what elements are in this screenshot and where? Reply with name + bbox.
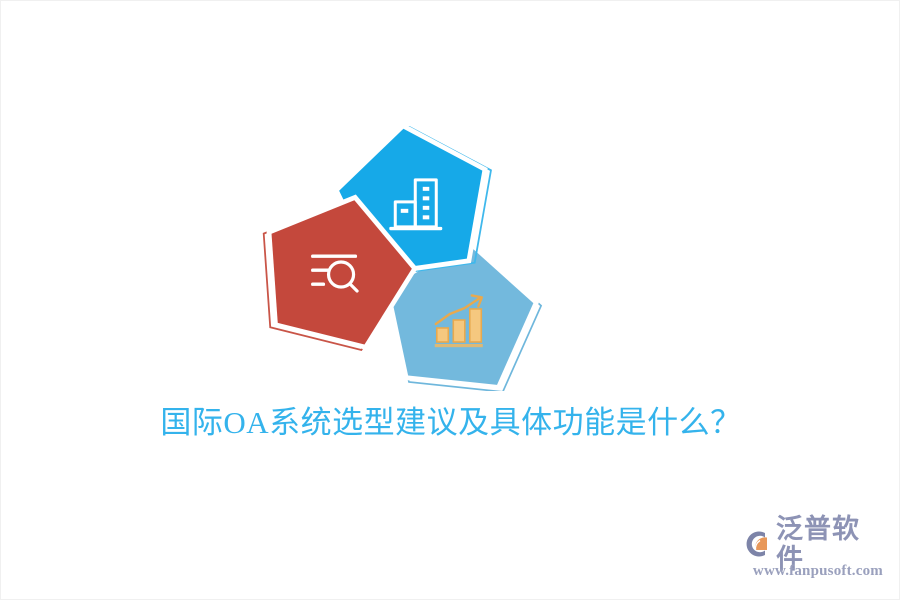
page-canvas: 国际OA系统选型建议及具体功能是什么？ 泛普软件 www.fanpusoft.c…	[0, 0, 900, 600]
brand-url: www.fanpusoft.com	[743, 562, 883, 580]
brand-logo: 泛普软件 www.fanpusoft.com	[743, 527, 883, 585]
three-pentagon-cluster	[256, 126, 546, 391]
fanpu-logo-mark-icon	[743, 529, 773, 559]
page-title: 国际OA系统选型建议及具体功能是什么？	[1, 403, 900, 443]
